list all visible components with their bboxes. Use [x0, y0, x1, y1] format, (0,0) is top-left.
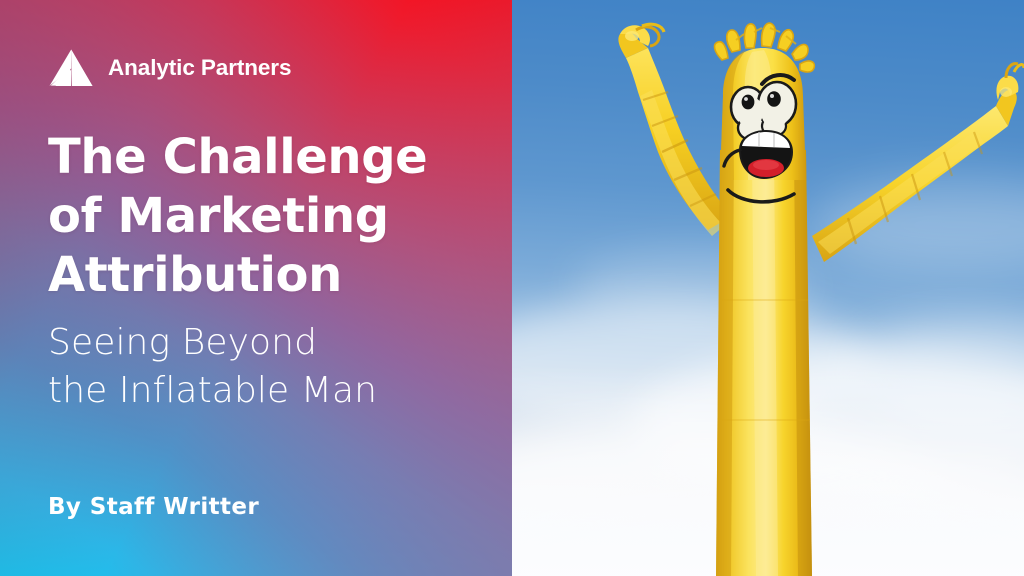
tube-man-figure	[512, 0, 1024, 576]
flex-spacer	[48, 415, 466, 494]
left-panel-content: Analytic Partners The Challenge of Marke…	[0, 0, 512, 576]
inflatable-tube-man-photo	[512, 0, 1024, 576]
tube-man-left-arm	[618, 24, 732, 236]
brand-logo[interactable]: Analytic Partners	[48, 48, 466, 88]
tube-man-body	[716, 150, 812, 576]
author-byline: By Staff Writter	[48, 494, 466, 520]
page-subtitle: Seeing Beyond the Inflatable Man	[48, 319, 466, 415]
article-hero-card: Analytic Partners The Challenge of Marke…	[0, 0, 1024, 576]
gradient-text-panel: Analytic Partners The Challenge of Marke…	[0, 0, 512, 576]
tube-man-right-arm	[812, 64, 1024, 262]
triangle-swoosh-logo-icon	[48, 48, 94, 88]
brand-name-label: Analytic Partners	[108, 55, 291, 81]
page-title: The Challenge of Marketing Attribution	[48, 128, 466, 305]
